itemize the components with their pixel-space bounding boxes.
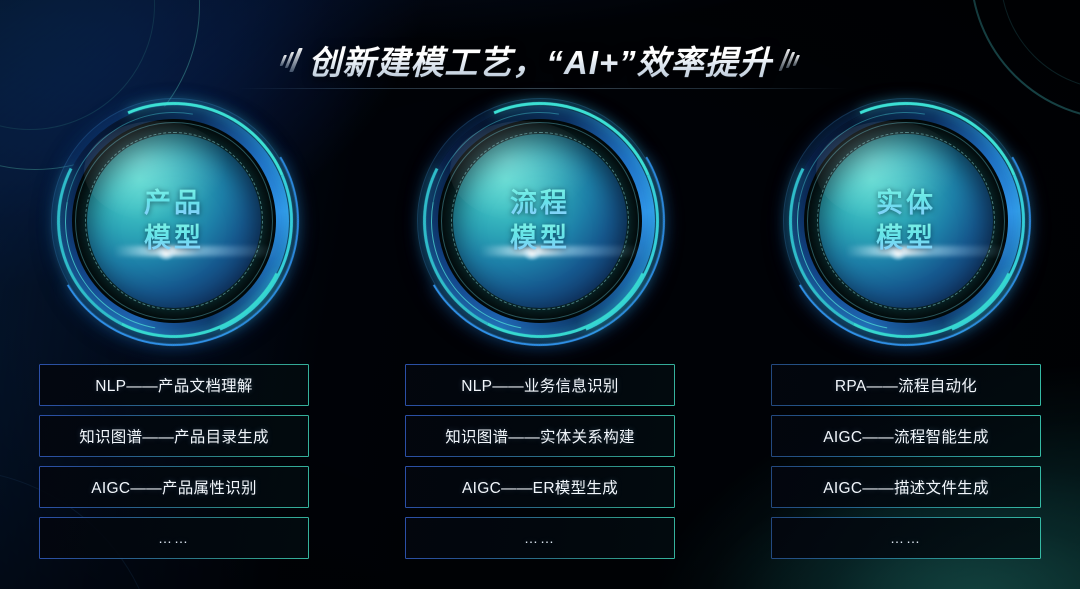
- list-item-label: AIGC——流程智能生成: [823, 425, 989, 447]
- list-item[interactable]: 知识图谱——实体关系构建: [405, 415, 675, 457]
- column-process-model: 流程 模型 NLP——业务信息识别 知识图谱——实体关系构建 AIGC——ER模…: [396, 96, 684, 566]
- list-item-more[interactable]: ……: [39, 517, 309, 559]
- list-item-label: ……: [524, 530, 556, 546]
- orb-label: 流程 模型: [415, 96, 665, 346]
- slash-marks-icon: [777, 47, 803, 73]
- orb-label-line2: 模型: [144, 222, 204, 255]
- orb-process-model[interactable]: 流程 模型: [415, 96, 665, 346]
- columns-container: 产品 模型 NLP——产品文档理解 知识图谱——产品目录生成 AIGC——产品属…: [0, 96, 1080, 566]
- list-item-label: ……: [158, 530, 190, 546]
- orb-label-line1: 实体: [876, 187, 936, 220]
- list-item-label: 知识图谱——产品目录生成: [79, 425, 269, 447]
- list-item-label: AIGC——描述文件生成: [823, 476, 989, 498]
- item-list: NLP——业务信息识别 知识图谱——实体关系构建 AIGC——ER模型生成 ……: [405, 364, 675, 559]
- item-list: RPA——流程自动化 AIGC——流程智能生成 AIGC——描述文件生成 ……: [771, 364, 1041, 559]
- list-item-more[interactable]: ……: [771, 517, 1041, 559]
- column-entity-model: 实体 模型 RPA——流程自动化 AIGC——流程智能生成 AIGC——描述文件…: [762, 96, 1050, 566]
- orb-label: 产品 模型: [49, 96, 299, 346]
- list-item[interactable]: AIGC——描述文件生成: [771, 466, 1041, 508]
- item-list: NLP——产品文档理解 知识图谱——产品目录生成 AIGC——产品属性识别 ……: [39, 364, 309, 559]
- list-item-more[interactable]: ……: [405, 517, 675, 559]
- slide-canvas: 创新建模工艺，“AI+”效率提升 产品: [0, 0, 1080, 589]
- list-item-label: NLP——业务信息识别: [461, 374, 618, 396]
- list-item[interactable]: AIGC——ER模型生成: [405, 466, 675, 508]
- list-item-label: AIGC——产品属性识别: [91, 476, 257, 498]
- page-title: 创新建模工艺，“AI+”效率提升: [308, 36, 772, 84]
- column-product-model: 产品 模型 NLP——产品文档理解 知识图谱——产品目录生成 AIGC——产品属…: [30, 96, 318, 566]
- list-item[interactable]: AIGC——产品属性识别: [39, 466, 309, 508]
- list-item-label: ……: [890, 530, 922, 546]
- list-item-label: RPA——流程自动化: [835, 374, 977, 396]
- list-item[interactable]: RPA——流程自动化: [771, 364, 1041, 406]
- orb-label: 实体 模型: [781, 96, 1031, 346]
- list-item-label: NLP——产品文档理解: [95, 374, 252, 396]
- list-item-label: AIGC——ER模型生成: [462, 476, 618, 498]
- list-item[interactable]: 知识图谱——产品目录生成: [39, 415, 309, 457]
- orb-product-model[interactable]: 产品 模型: [49, 96, 299, 346]
- list-item-label: 知识图谱——实体关系构建: [445, 425, 635, 447]
- list-item[interactable]: NLP——产品文档理解: [39, 364, 309, 406]
- slide-title-bar: 创新建模工艺，“AI+”效率提升: [0, 33, 1080, 87]
- list-item[interactable]: AIGC——流程智能生成: [771, 415, 1041, 457]
- title-underline: [238, 88, 848, 89]
- orb-label-line2: 模型: [876, 222, 936, 255]
- orb-label-line1: 流程: [510, 187, 570, 220]
- slash-marks-icon: [277, 47, 304, 73]
- list-item[interactable]: NLP——业务信息识别: [405, 364, 675, 406]
- orb-label-line1: 产品: [144, 187, 204, 220]
- orb-label-line2: 模型: [510, 222, 570, 255]
- orb-entity-model[interactable]: 实体 模型: [781, 96, 1031, 346]
